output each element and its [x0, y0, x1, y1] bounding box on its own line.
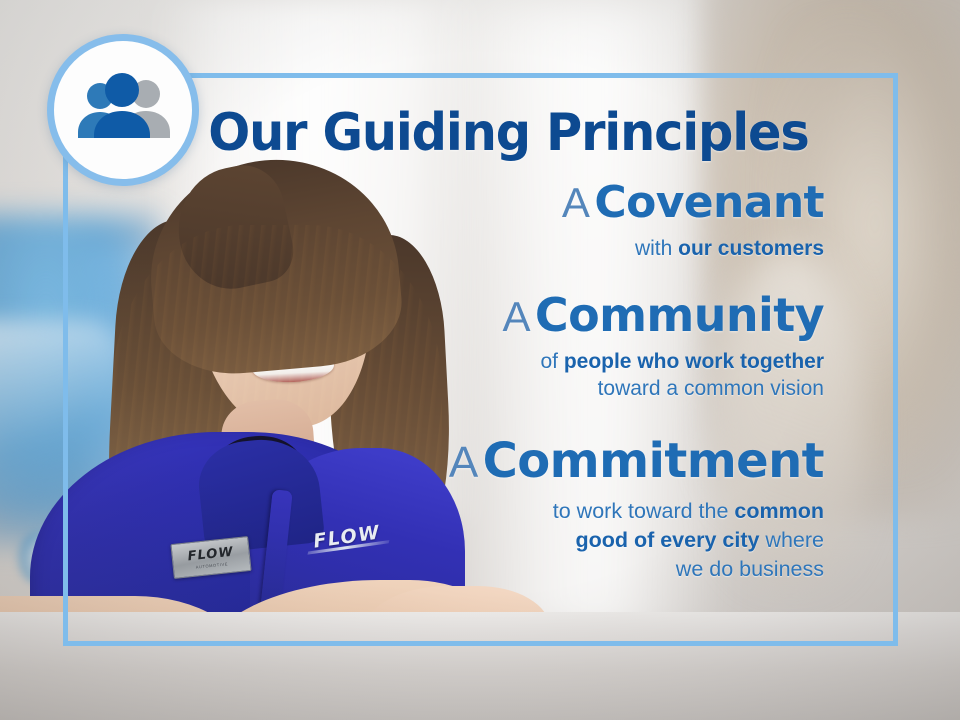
principle-headline: A Commitment: [63, 437, 824, 486]
principle-headline: A Community: [63, 292, 824, 339]
page-title: Our Guiding Principles: [176, 107, 840, 159]
principle-headline: A Covenant: [63, 181, 824, 226]
principle-word: Commitment: [483, 433, 824, 489]
subtext-line: with our customers: [63, 235, 824, 262]
subtext-line: good of every city where: [63, 526, 824, 555]
subtext-run: of: [540, 350, 563, 373]
subtext-run-bold: our customers: [678, 237, 824, 260]
principle-word: Covenant: [594, 177, 824, 228]
principle-subtext: of people who work together toward a com…: [63, 348, 824, 403]
subtext-line: we do business: [63, 555, 824, 584]
principle-community: A Community of people who work together …: [63, 292, 858, 403]
poster-canvas: FLOW AUTOMOTIVE FLOW: [0, 0, 960, 720]
principle-subtext: with our customers: [63, 235, 824, 262]
principle-commitment: A Commitment to work toward the common g…: [63, 437, 858, 584]
principle-subtext: to work toward the common good of every …: [63, 497, 824, 584]
poster-content: Our Guiding Principles A Covenant with o…: [63, 73, 898, 646]
subtext-run-bold: common: [734, 499, 824, 523]
principle-article: A: [562, 179, 590, 226]
principle-article: A: [502, 293, 530, 340]
subtext-run: toward a common vision: [598, 377, 824, 400]
subtext-line: to work toward the common: [63, 497, 824, 526]
subtext-run-bold: good of every city: [575, 528, 759, 552]
subtext-run: we do business: [676, 557, 824, 581]
subtext-run: where: [759, 528, 824, 552]
subtext-run-bold: people who work together: [564, 350, 824, 373]
subtext-run: to work toward the: [553, 499, 735, 523]
subtext-line: toward a common vision: [63, 375, 824, 402]
subtext-run: with: [635, 237, 678, 260]
principle-word: Community: [535, 288, 824, 342]
principle-covenant: A Covenant with our customers: [63, 181, 858, 262]
subtext-line: of people who work together: [63, 348, 824, 375]
principle-article: A: [449, 438, 478, 487]
